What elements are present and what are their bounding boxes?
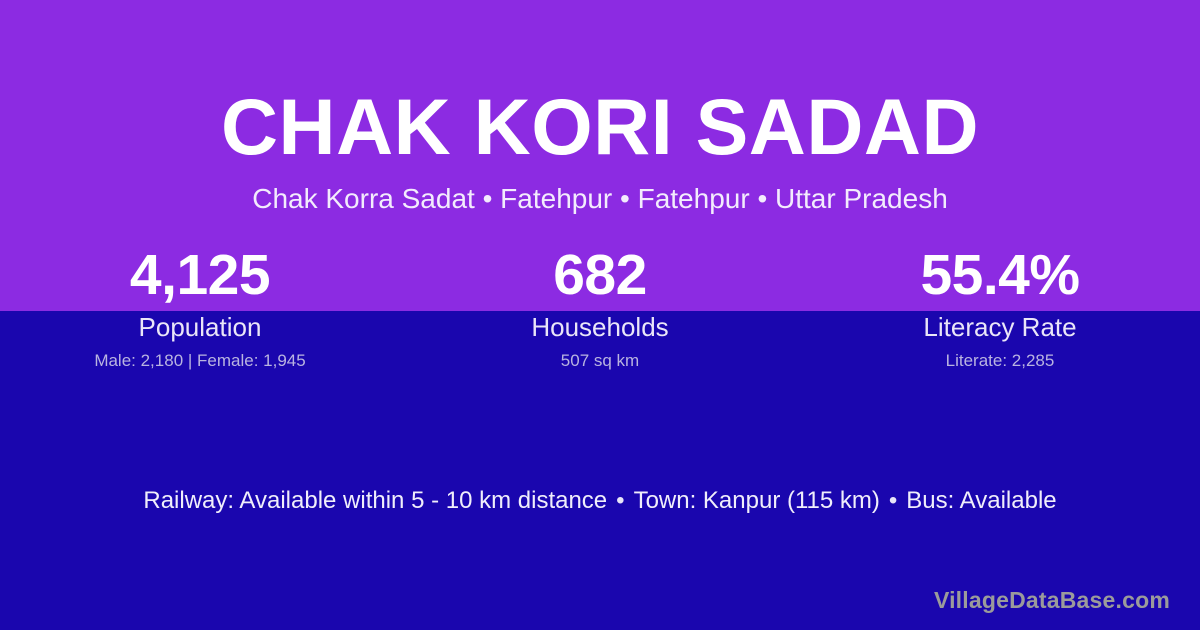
page-title: CHAK KORI SADAD: [0, 84, 1200, 170]
stat-value-literacy-rate: 55.4%: [800, 244, 1200, 306]
facility-railway: Railway: Available within 5 - 10 km dist…: [143, 487, 607, 514]
card-content: CHAK KORI SADAD Chak Korra Sadat • Fateh…: [0, 0, 1200, 630]
stat-label-literacy-rate: Literacy Rate: [800, 312, 1200, 342]
village-info-card: CHAK KORI SADAD Chak Korra Sadat • Fateh…: [0, 0, 1200, 630]
facility-bus: Bus: Available: [906, 487, 1056, 514]
card-header: CHAK KORI SADAD Chak Korra Sadat • Fateh…: [0, 84, 1200, 216]
stat-sub-population: Male: 2,180 | Female: 1,945: [0, 350, 400, 372]
facility-separator-1: •: [607, 484, 633, 518]
facilities-line: Railway: Available within 5 - 10 km dist…: [0, 484, 1200, 518]
stat-households: 682 Households 507 sq km: [400, 244, 800, 372]
stat-label-population: Population: [0, 312, 400, 342]
stats-row: 4,125 Population Male: 2,180 | Female: 1…: [0, 244, 1200, 372]
facility-town: Town: Kanpur (115 km): [634, 487, 880, 514]
stat-label-households: Households: [400, 312, 800, 342]
site-brand: VillageDataBase.com: [934, 586, 1170, 614]
stat-value-households: 682: [400, 244, 800, 306]
stat-sub-households: 507 sq km: [400, 350, 800, 372]
facility-separator-2: •: [880, 484, 906, 518]
stat-value-population: 4,125: [0, 244, 400, 306]
stat-sub-literacy-rate: Literate: 2,285: [800, 350, 1200, 372]
stat-population: 4,125 Population Male: 2,180 | Female: 1…: [0, 244, 400, 372]
stat-literacy-rate: 55.4% Literacy Rate Literate: 2,285: [800, 244, 1200, 372]
breadcrumb: Chak Korra Sadat • Fatehpur • Fatehpur •…: [0, 182, 1200, 216]
